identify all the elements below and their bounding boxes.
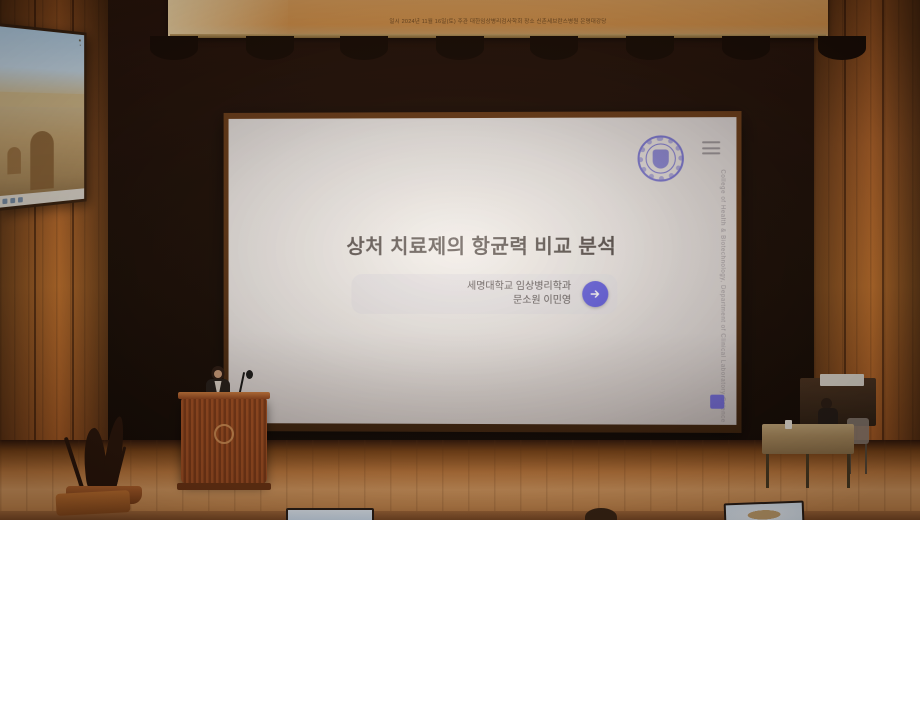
podium-emblem-icon (214, 424, 234, 444)
slide-side-text: College of Health & Biotechnology, Depar… (719, 169, 725, 422)
banner-scallop (340, 36, 388, 60)
cabinet-papers (820, 374, 864, 386)
laptop-screen (726, 503, 803, 520)
conference-banner: 제 ○○회 대한임상병리학회 추계학술대회 일시 2024년 11월 16일(토… (168, 0, 828, 38)
bridge-arch-icon (30, 131, 53, 190)
university-seal-icon (638, 135, 684, 181)
laptop-screen (288, 510, 372, 520)
wall-mounted-monitor: ■▪ (0, 23, 87, 211)
banner-scallop (818, 36, 866, 60)
desk-legs (766, 454, 850, 488)
slide-subtitle-pill: 세명대학교 임상병리학과 문소원 이민영 (351, 274, 617, 314)
projection-screen: College of Health & Biotechnology, Depar… (229, 117, 737, 425)
slide-corner-accent (710, 395, 724, 409)
banner-scallop (436, 36, 484, 60)
slide-affiliation: 세명대학교 임상병리학과 (467, 279, 571, 294)
podium-base (177, 483, 271, 490)
slide-subtitle-lines: 세명대학교 임상병리학과 문소원 이민영 (467, 279, 571, 308)
front-row-laptop (286, 508, 374, 520)
water-cup (785, 420, 792, 429)
conference-photo: 제 ○○회 대한임상병리학회 추계학술대회 일시 2024년 11월 16일(토… (0, 0, 920, 520)
slide-presenters: 문소원 이민영 (467, 294, 571, 309)
banner-scallop (722, 36, 770, 60)
seal-inner-ring (646, 143, 676, 173)
banner-scallop (626, 36, 674, 60)
page-root: 제 ○○회 대한임상병리학회 추계학술대회 일시 2024년 11월 16일(토… (0, 0, 920, 719)
blank-area-below-photo (0, 520, 920, 719)
seal-shield-icon (653, 149, 669, 168)
bridge-arch-icon (7, 147, 21, 175)
front-row-laptop (724, 501, 805, 520)
hamburger-menu-icon (702, 141, 720, 154)
banner-scallop (150, 36, 198, 60)
audience-head-silhouette (585, 508, 617, 520)
taskbar-icon (10, 198, 15, 204)
foreground-plant-silhouette (62, 404, 146, 504)
monitor-hud-text: ■▪ (79, 38, 81, 47)
banner-scallop (530, 36, 578, 60)
presenter-face (214, 370, 222, 378)
slide-title: 상처 치료제의 항균력 비교 분석 (229, 230, 737, 259)
moderator-desk (762, 424, 854, 454)
banner-subtitle-text: 일시 2024년 11월 16일(토) 주관 대한임상병리검사학회 장소 신촌세… (168, 17, 828, 25)
arrow-right-icon (582, 281, 608, 307)
podium-microphone-icon (246, 370, 253, 379)
projection-screen-frame: College of Health & Biotechnology, Depar… (224, 111, 742, 433)
wooden-podium (181, 398, 267, 484)
bridge-deck (0, 92, 84, 108)
taskbar-icon (18, 197, 23, 203)
podium-top-surface (178, 392, 270, 399)
taskbar-icon (2, 198, 7, 204)
banner-scallop (246, 36, 294, 60)
front-stage-object (55, 490, 130, 516)
monitor-screen: ■▪ (0, 26, 84, 207)
plant-stem (64, 437, 84, 490)
